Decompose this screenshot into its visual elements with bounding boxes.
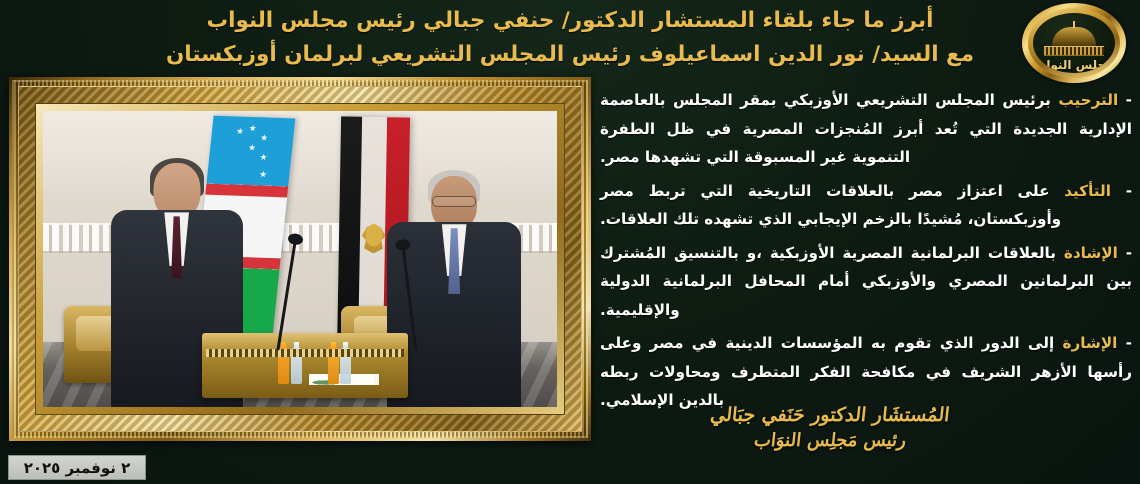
photo-frame	[9, 77, 591, 441]
emblem-inner-disc: مجلس النواب	[1033, 13, 1115, 73]
parliament-emblem-logo-icon: مجلس النواب	[1022, 3, 1126, 83]
frame-gilt-outer	[9, 77, 591, 441]
bullet-dash: -	[1126, 182, 1132, 200]
bullet-dash: -	[1126, 91, 1132, 109]
bullet-text: على اعتزاز مصر بالعلاقات التاريخية التي …	[600, 182, 1061, 229]
water-bottle	[291, 348, 302, 384]
header: أبرز ما جاء بلقاء المستشار الدكتور/ حنفي…	[0, 0, 1140, 80]
bullet-keyword: الترحيب	[1058, 91, 1118, 109]
bullet-text: برئيس المجلس التشريعي الأوزبكي بمقر المج…	[600, 91, 1132, 166]
bullet-keyword: الإشادة	[1064, 244, 1118, 262]
bullet-keyword: التأكيد	[1064, 182, 1111, 200]
juice-bottle	[328, 348, 339, 384]
header-line-2: مع السيد/ نور الدين اسماعيلوف رئيس المجل…	[0, 42, 1140, 67]
signature-title: رئيس مَجلِس النوَاب	[619, 430, 1041, 451]
eyeglasses-icon	[432, 196, 476, 207]
header-line-1: أبرز ما جاء بلقاء المستشار الدكتور/ حنفي…	[0, 8, 1140, 33]
bullet-list: - الترحيب برئيس المجلس التشريعي الأوزبكي…	[600, 86, 1132, 420]
meeting-photo	[43, 111, 557, 407]
bullet-dash: -	[1126, 244, 1132, 262]
list-item: - الإشارة إلى الدور الذي تقوم به المؤسسا…	[600, 329, 1132, 415]
bullet-text: إلى الدور الذي تقوم به المؤسسات الدينية …	[600, 334, 1132, 409]
signature-block: المُستشَار الدكتور حَنَفي جبَالي رئيس مَ…	[620, 404, 1040, 451]
bullet-keyword: الإشارة	[1062, 334, 1117, 352]
emblem-calligraphy: مجلس النواب	[1033, 58, 1115, 72]
list-item: - التأكيد على اعتزاز مصر بالعلاقات التار…	[600, 177, 1132, 234]
list-item: - الإشادة بالعلاقات البرلمانية المصرية ا…	[600, 239, 1132, 325]
parliament-colonnade-icon	[1044, 46, 1104, 56]
date-badge: ٢ نوفمبر ٢٠٢٥	[8, 455, 146, 480]
list-item: - الترحيب برئيس المجلس التشريعي الأوزبكي…	[600, 86, 1132, 172]
gilded-coffee-table	[202, 333, 408, 398]
water-bottle	[340, 348, 351, 384]
bullet-dash: -	[1126, 334, 1132, 352]
juice-bottle	[278, 348, 289, 384]
bullet-text: بالعلاقات البرلمانية المصرية الأوزبكية ،…	[600, 244, 1132, 319]
poster-canvas: أبرز ما جاء بلقاء المستشار الدكتور/ حنفي…	[0, 0, 1140, 484]
parliament-dome-icon	[1052, 27, 1096, 47]
signature-name: المُستشَار الدكتور حَنَفي جبَالي	[619, 404, 1041, 426]
date-badge-value: ٢ نوفمبر ٢٠٢٥	[24, 459, 131, 477]
